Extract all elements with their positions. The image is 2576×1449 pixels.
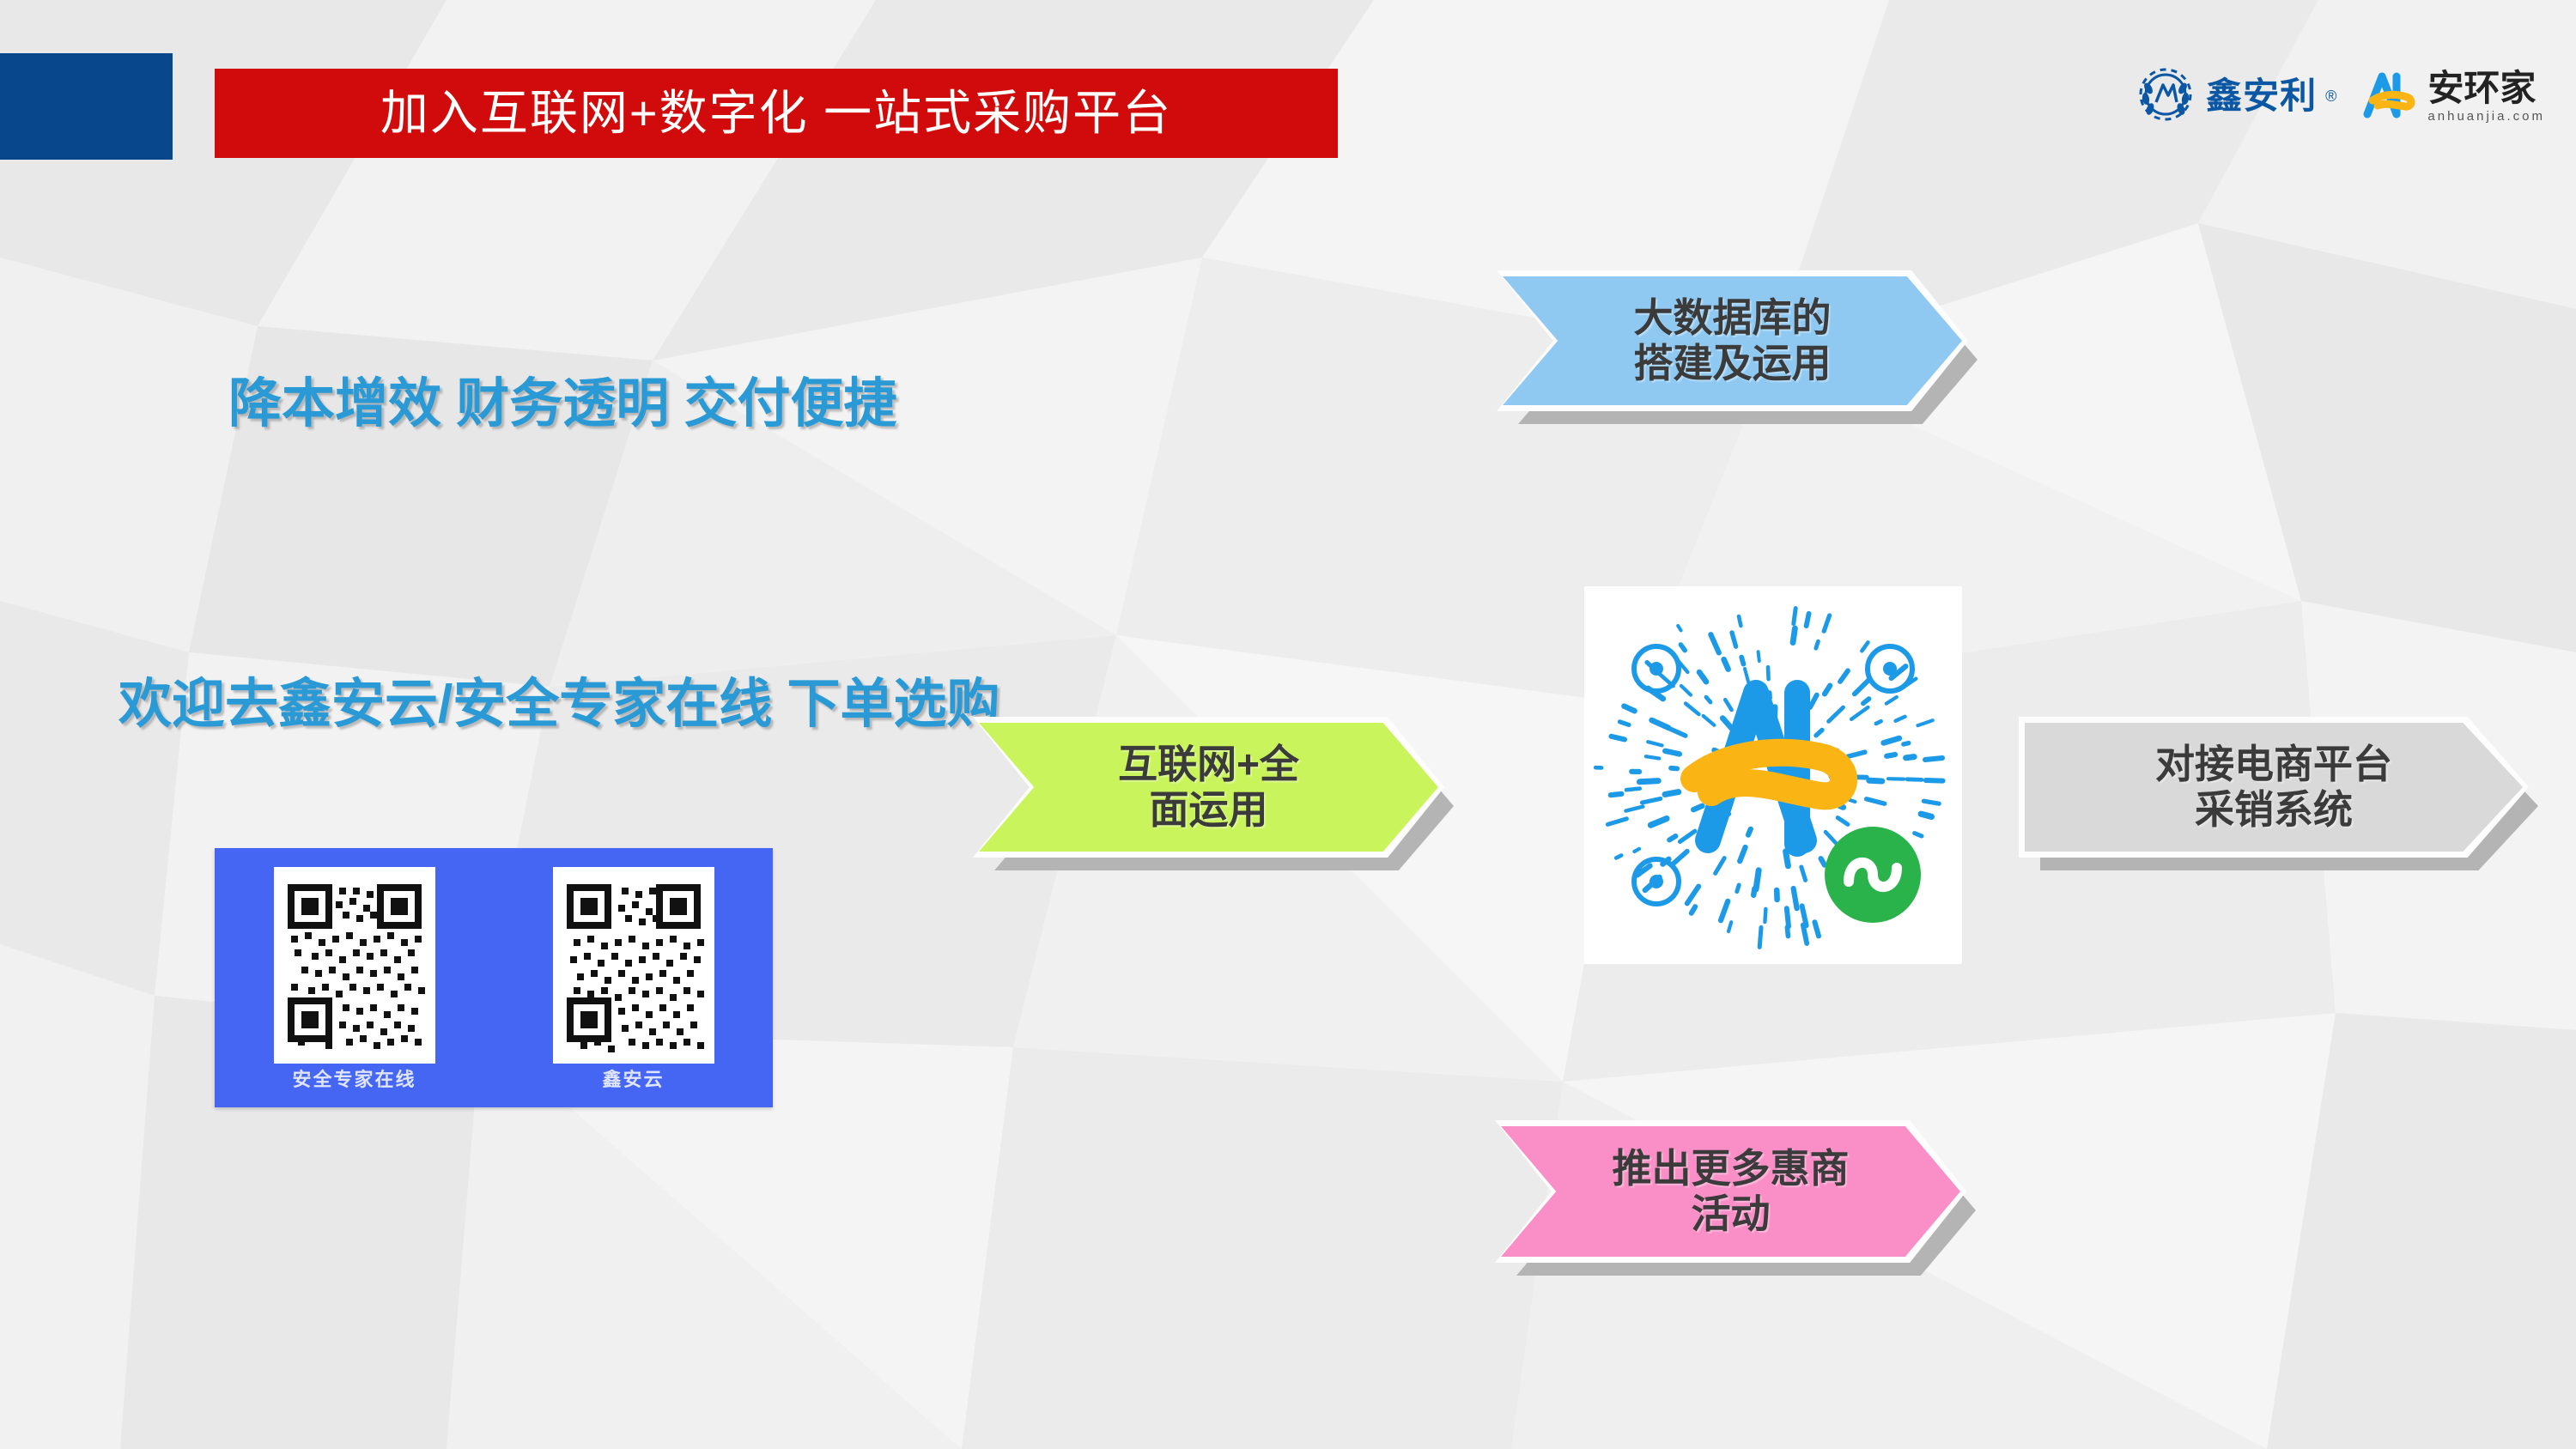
chevron-body: 推出更多惠商 活动 — [1501, 1126, 1960, 1257]
page-title: 加入互联网+数字化 一站式采购平台 — [380, 89, 1172, 137]
gear-wreath-xal-icon — [2134, 63, 2197, 130]
qr-code-icon[interactable] — [274, 867, 435, 1064]
wechat-miniprogram-qr-icon[interactable] — [1584, 586, 1962, 964]
wechat-miniprogram-badge-icon — [1825, 827, 1921, 923]
slide-title-bar: 加入互联网+数字化 一站式采购平台 — [215, 69, 1338, 158]
chevron-bigdata[interactable]: 大数据库的 搭建及运用 — [1503, 276, 1962, 405]
qr-code-caption: 鑫安云 — [602, 1070, 664, 1089]
xinanli-logo: 鑫安利 ® — [2134, 63, 2336, 130]
registered-mark-icon: ® — [2325, 88, 2336, 106]
chevron-label-line: 对接电商平台 — [2155, 742, 2392, 787]
chevron-label-line: 面运用 — [1150, 787, 1268, 833]
anhuanjia-logo-text: 安环家 — [2427, 70, 2545, 106]
chevron-body: 互联网+全 面运用 — [979, 723, 1438, 852]
chevron-label-line: 大数据库的 — [1634, 295, 1832, 341]
chevron-label-line: 活动 — [1692, 1191, 1771, 1237]
qr-code-caption: 安全专家在线 — [292, 1070, 416, 1089]
qr-code-item[interactable]: 鑫安云 — [553, 867, 714, 1089]
anhuanjia-logo: 安环家 anhuanjia.com — [2359, 68, 2545, 125]
chevron-label-line: 互联网+全 — [1118, 742, 1299, 787]
tagline-call-to-action: 欢迎去鑫安云/安全专家在线 下单选购 — [118, 678, 999, 731]
brand-logo-row: 鑫安利 ® 安环家 anhuanjia.com — [2134, 53, 2545, 139]
chevron-label-line: 采销系统 — [2195, 787, 2353, 833]
anhuanjia-domain: anhuanjia.com — [2427, 110, 2545, 123]
chevron-ecommerce-platform[interactable]: 对接电商平台 采销系统 — [2025, 723, 2523, 852]
chevron-label-line: 搭建及运用 — [1634, 341, 1832, 386]
chevron-label-line: 推出更多惠商 — [1613, 1146, 1850, 1191]
qr-code-icon[interactable] — [553, 867, 714, 1064]
chevron-body: 对接电商平台 采销系统 — [2025, 723, 2523, 852]
qr-code-panel: 安全专家在线 — [215, 848, 773, 1107]
anhuanjia-a-mark-icon — [2359, 68, 2419, 125]
chevron-internet-plus[interactable]: 互联网+全 面运用 — [979, 723, 1438, 852]
tagline-benefits: 降本增效 财务透明 交付便捷 — [228, 378, 896, 431]
qr-code-item[interactable]: 安全专家在线 — [274, 867, 435, 1089]
accent-block — [0, 53, 173, 160]
xinanli-logo-text: 鑫安利 — [2206, 78, 2317, 114]
chevron-body: 大数据库的 搭建及运用 — [1503, 276, 1962, 405]
chevron-promotions[interactable]: 推出更多惠商 活动 — [1501, 1126, 1960, 1257]
